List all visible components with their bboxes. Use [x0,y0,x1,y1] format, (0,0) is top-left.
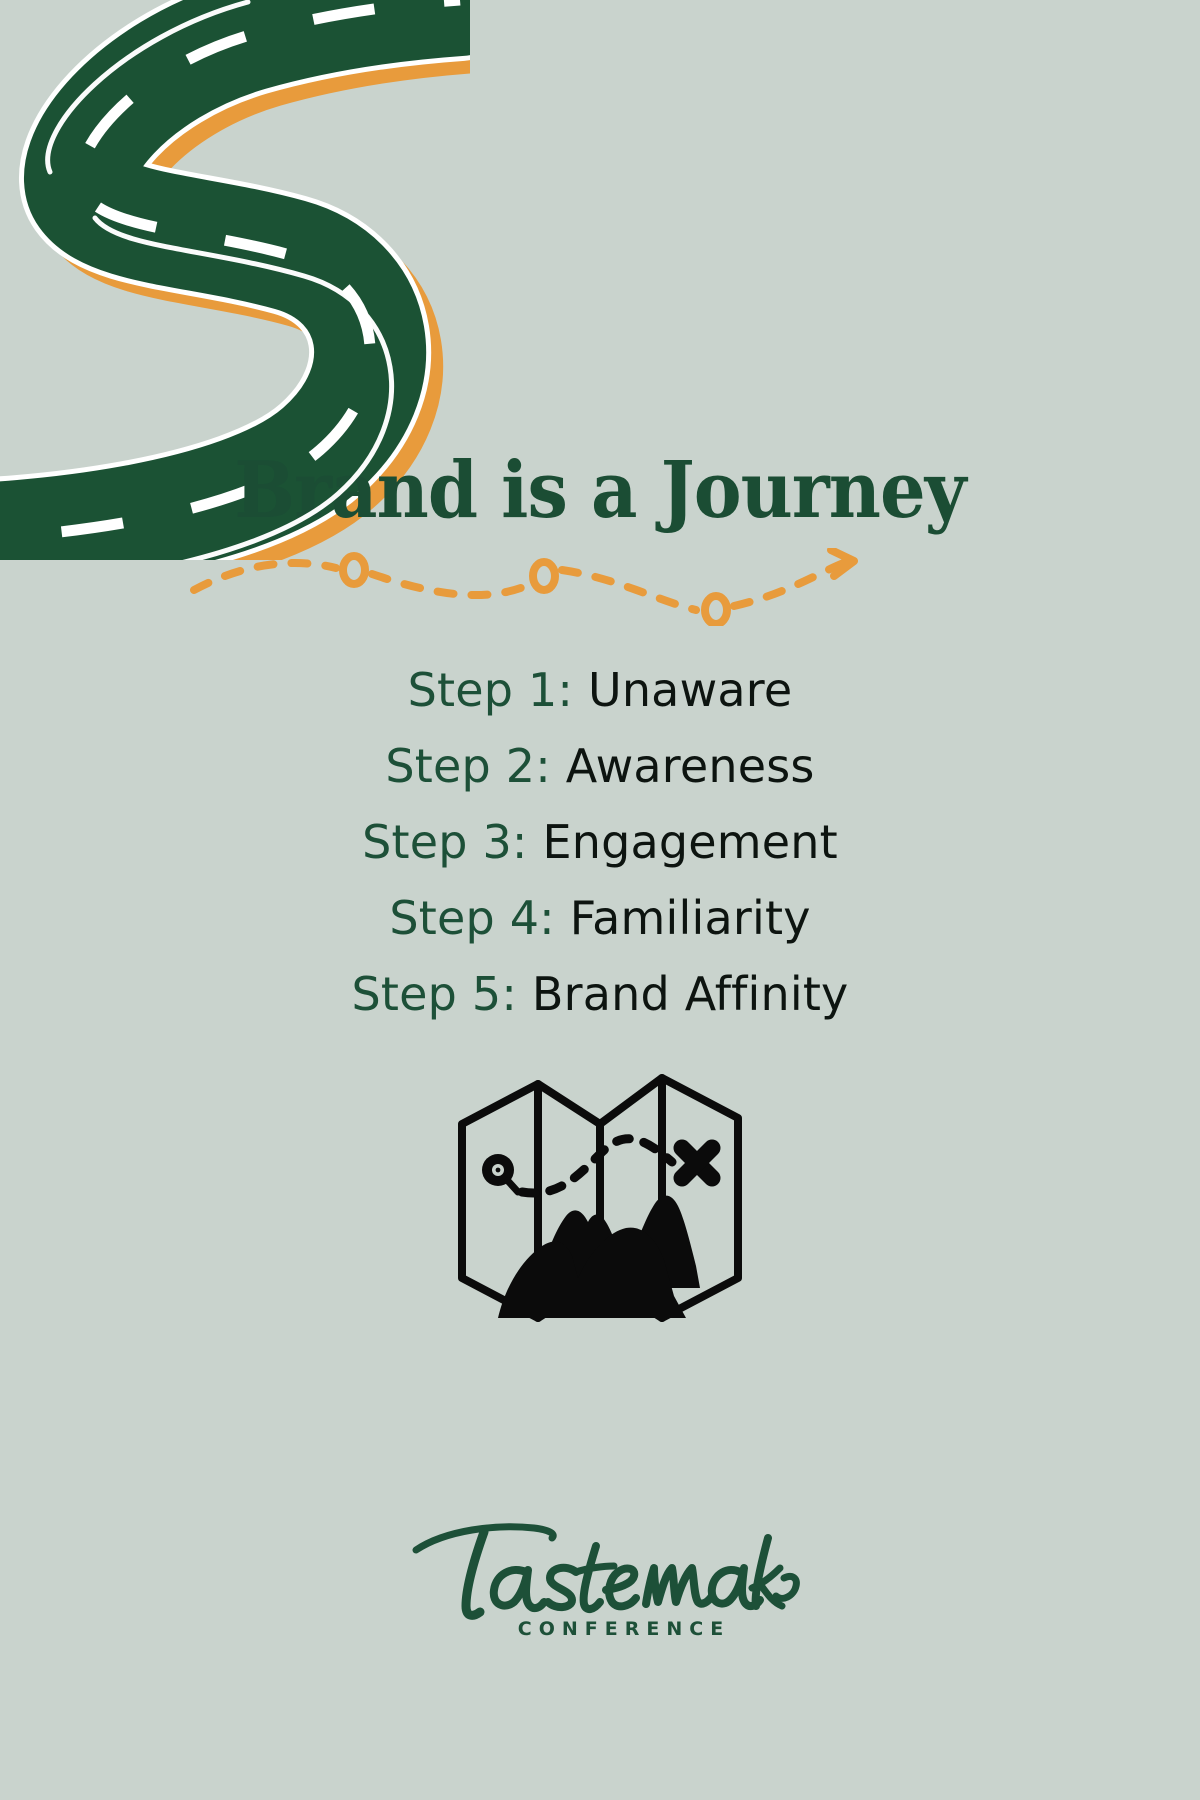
dashed-journey-path [186,548,866,626]
list-item: Step 5: Brand Affinity [0,956,1200,1032]
waypoint-ring [343,556,365,584]
list-item: Step 3: Engagement [0,804,1200,880]
brand-logo: CONFERENCE [0,1512,1200,1640]
step-value: Awareness [566,739,815,793]
step-value: Unaware [588,663,792,717]
step-value: Engagement [542,815,837,869]
step-value: Familiarity [570,891,811,945]
waypoint-ring [533,562,555,590]
step-label: Step 5: [352,967,518,1021]
x-destination-marker [682,1148,712,1178]
page-title: Brand is a Journey [48,452,1152,530]
journey-steps-list: Step 1: Unaware Step 2: Awareness Step 3… [0,652,1200,1032]
step-label: Step 4: [389,891,555,945]
step-label: Step 3: [362,815,528,869]
list-item: Step 1: Unaware [0,652,1200,728]
folded-map-icon [450,1066,750,1326]
list-item: Step 4: Familiarity [0,880,1200,956]
step-label: Step 2: [385,739,551,793]
list-item: Step 2: Awareness [0,728,1200,804]
step-value: Brand Affinity [532,967,849,1021]
start-marker [482,1154,518,1192]
logo-subtitle: CONFERENCE [48,1618,1200,1640]
waypoint-ring [705,596,727,624]
tastemaker-wordmark [400,1512,800,1632]
step-label: Step 1: [408,663,574,717]
poster-canvas: Brand is a Journey Step 1: U [0,0,1200,1800]
